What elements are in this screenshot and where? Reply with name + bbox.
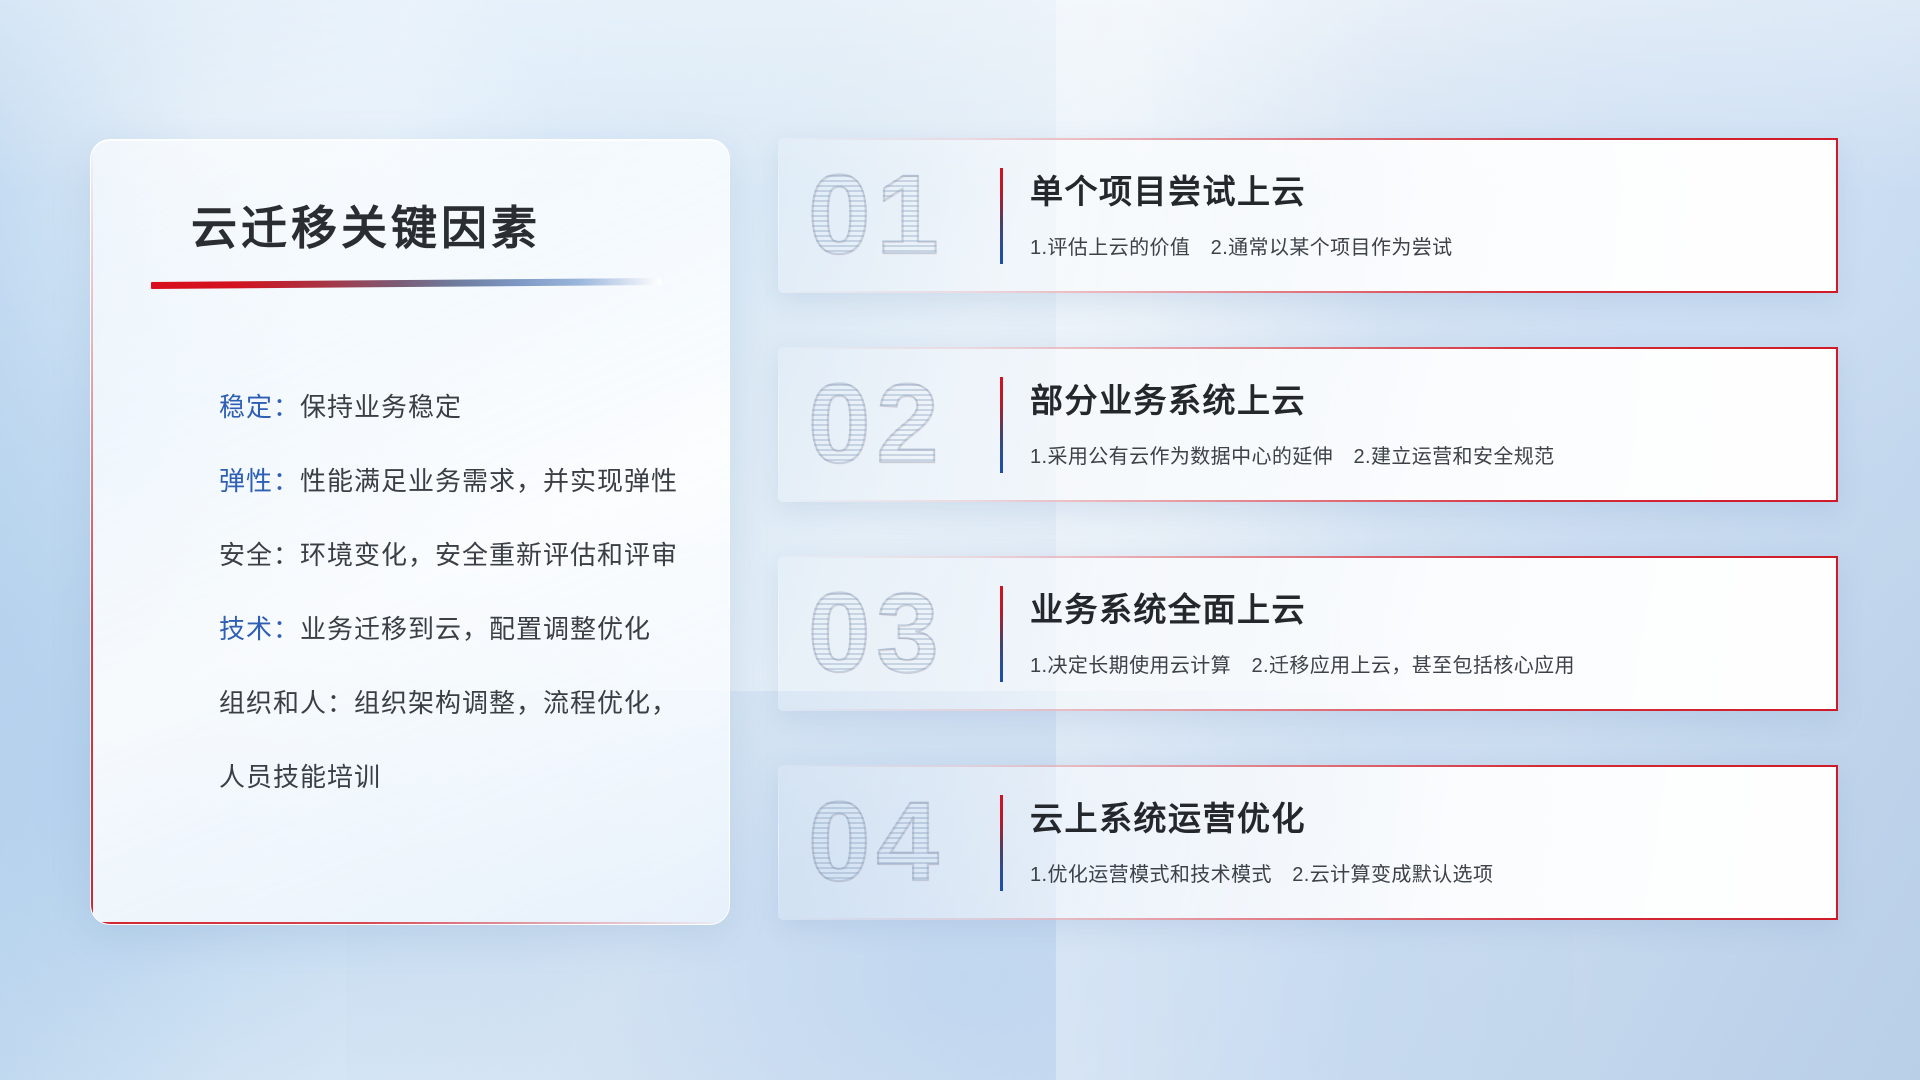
key-factor-label: 技术： (219, 614, 300, 644)
key-factors-list: 稳定：保持业务稳定弹性：性能满足业务需求，并实现弹性安全：环境变化，安全重新评估… (123, 370, 703, 814)
key-factor-text: 性能满足业务需求，并实现弹性 (300, 466, 678, 496)
key-factor-item: 安全：环境变化，安全重新评估和评审 (123, 518, 703, 592)
card-border-right (1836, 765, 1838, 920)
stage-subtitle: 1.评估上云的价值 2.通常以某个项目作为尝试 (1030, 231, 1453, 260)
title-underline-rule (151, 278, 661, 289)
stage-title: 业务系统全面上云 (1030, 583, 1306, 631)
stage-number: 04 (808, 777, 945, 907)
key-factor-label: 稳定： (219, 392, 300, 422)
key-factor-item: 弹性：性能满足业务需求，并实现弹性 (123, 444, 703, 518)
stage-title: 部分业务系统上云 (1030, 374, 1306, 422)
stage-title: 云上系统运营优化 (1030, 792, 1306, 840)
card-divider (1000, 377, 1003, 473)
card-border-top (778, 556, 1838, 558)
card-border-right (1836, 138, 1838, 293)
card-divider (1000, 795, 1003, 891)
stage-subtitle: 1.采用公有云作为数据中心的延伸 2.建立运营和安全规范 (1030, 440, 1555, 469)
card-border-bottom (778, 291, 1838, 293)
key-factor-item: 技术：业务迁移到云，配置调整优化 (123, 592, 703, 666)
key-factors-panel: 云迁移关键因素 稳定：保持业务稳定弹性：性能满足业务需求，并实现弹性安全：环境变… (90, 139, 730, 925)
stage-number: 02 (808, 359, 945, 489)
card-border-left (778, 138, 779, 293)
stage-card[interactable]: 0202部分业务系统上云1.采用公有云作为数据中心的延伸 2.建立运营和安全规范 (778, 347, 1838, 502)
key-factor-text: 人员技能培训 (219, 762, 381, 792)
key-factor-label: 弹性： (219, 466, 300, 496)
key-factor-text: 保持业务稳定 (300, 392, 462, 422)
card-border-left (778, 347, 779, 502)
key-factor-text: 组织架构调整，流程优化， (354, 688, 678, 718)
migration-stage-cards: 0101单个项目尝试上云1.评估上云的价值 2.通常以某个项目作为尝试0202部… (778, 138, 1838, 974)
stage-card[interactable]: 0101单个项目尝试上云1.评估上云的价值 2.通常以某个项目作为尝试 (778, 138, 1838, 293)
stage-title: 单个项目尝试上云 (1030, 165, 1306, 213)
card-divider (1000, 168, 1003, 264)
card-border-left (778, 556, 779, 711)
stage-subtitle: 1.优化运营模式和技术模式 2.云计算变成默认选项 (1030, 858, 1493, 887)
card-border-bottom (778, 500, 1838, 502)
card-border-top (778, 765, 1838, 767)
stage-card[interactable]: 0303业务系统全面上云1.决定长期使用云计算 2.迁移应用上云，甚至包括核心应… (778, 556, 1838, 711)
key-factor-label: 组织和人： (219, 688, 354, 718)
page-title: 云迁移关键因素 (191, 192, 541, 258)
card-border-top (778, 347, 1838, 349)
stage-number: 01 (808, 150, 945, 280)
card-border-bottom (778, 918, 1838, 920)
key-factor-text: 业务迁移到云，配置调整优化 (300, 614, 651, 644)
card-divider (1000, 586, 1003, 682)
stage-number: 03 (808, 568, 945, 698)
card-border-right (1836, 556, 1838, 711)
key-factor-item: 稳定：保持业务稳定 (123, 370, 703, 444)
card-border-right (1836, 347, 1838, 502)
card-border-top (778, 138, 1838, 140)
card-border-bottom (778, 709, 1838, 711)
key-factor-text: 环境变化，安全重新评估和评审 (300, 540, 678, 570)
stage-card[interactable]: 0404云上系统运营优化1.优化运营模式和技术模式 2.云计算变成默认选项 (778, 765, 1838, 920)
key-factor-label: 安全： (219, 540, 300, 570)
key-factor-item: 人员技能培训 (123, 740, 703, 814)
card-border-left (778, 765, 779, 920)
stage-subtitle: 1.决定长期使用云计算 2.迁移应用上云，甚至包括核心应用 (1030, 649, 1575, 678)
key-factor-item: 组织和人：组织架构调整，流程优化， (123, 666, 703, 740)
